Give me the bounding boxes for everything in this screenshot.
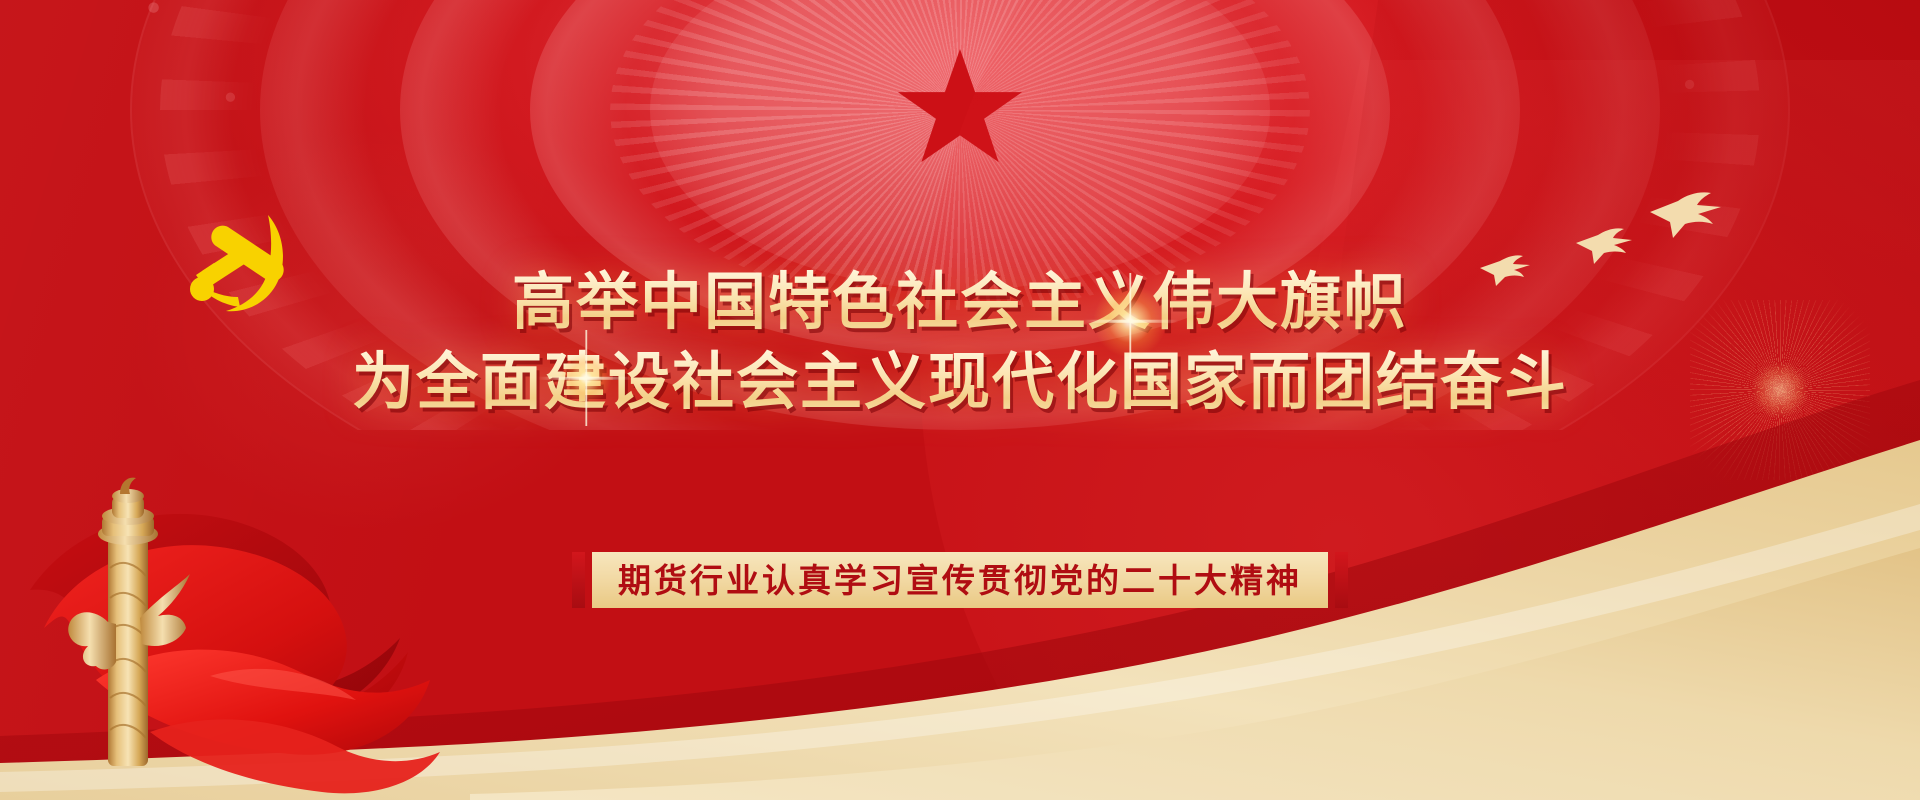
headline-block: 高举中国特色社会主义伟大旗帜 为全面建设社会主义现代化国家而团结奋斗 <box>0 268 1920 418</box>
headline-line-2: 为全面建设社会主义现代化国家而团结奋斗 <box>0 348 1920 418</box>
five-pointed-star-icon <box>896 49 1024 171</box>
headline-line-1: 高举中国特色社会主义伟大旗帜 <box>0 268 1920 338</box>
party-congress-banner: 高举中国特色社会主义伟大旗帜 为全面建设社会主义现代化国家而团结奋斗 期货行业认… <box>0 0 1920 800</box>
dome-radiating-rays <box>610 0 1310 310</box>
subtitle-plate: 期货行业认真学习宣传贯彻党的二十大精神 <box>592 552 1328 608</box>
ribbon-cap-right-outer <box>1335 552 1348 608</box>
subtitle-ribbon: 期货行业认真学习宣传贯彻党的二十大精神 <box>0 552 1920 608</box>
ribbon-cap-left-outer <box>572 552 585 608</box>
huabiao-column-icon <box>62 472 194 772</box>
subtitle-text: 期货行业认真学习宣传贯彻党的二十大精神 <box>618 564 1302 597</box>
